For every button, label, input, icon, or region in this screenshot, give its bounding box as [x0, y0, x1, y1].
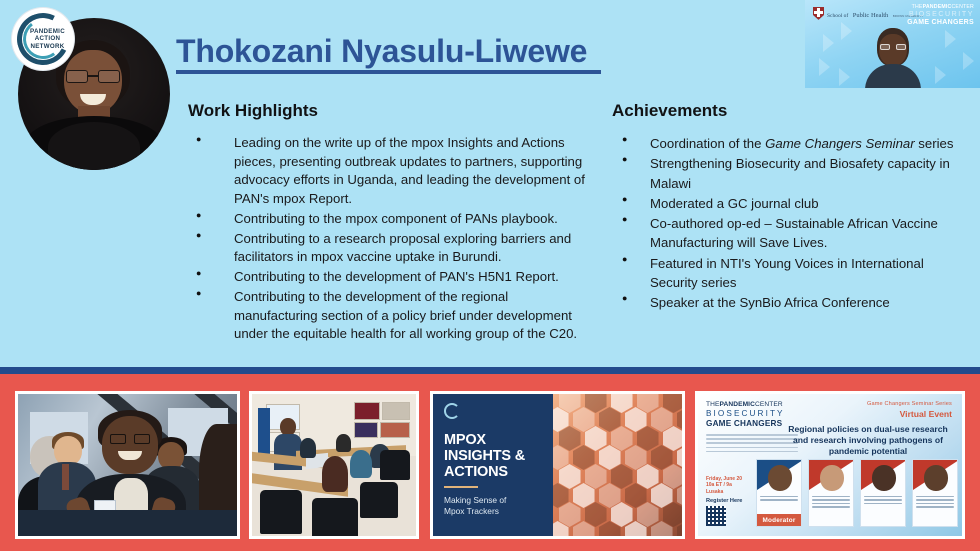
flyer-register-label[interactable]: Register Here — [706, 498, 750, 504]
achievement-item: Coordination of the Game Changers Semina… — [612, 134, 962, 153]
achievements-list: Coordination of the Game Changers Semina… — [612, 134, 962, 312]
vt-brand-game-changers: GAME CHANGERS — [907, 19, 974, 27]
navy-divider — [0, 367, 980, 374]
achievement-item: Moderated a GC journal club — [612, 194, 962, 213]
flyer-speaker-cards: Moderator — [756, 459, 958, 527]
sph-line2: Public Health — [853, 12, 889, 19]
achievement-item: Strengthening Biosecurity and Biosafety … — [612, 154, 962, 193]
mpox-subtitle-line2: Mpox Trackers — [444, 506, 506, 517]
flyer-brand-lockup: THEPANDEMICCENTER BIOSECURITY GAME CHANG… — [706, 401, 785, 429]
presentation-slide: School of Public Health BROWN UNIVERSITY… — [0, 0, 980, 551]
flyer-brand-center: CENTER — [755, 401, 783, 408]
achievement-text-tail: series — [915, 136, 954, 151]
flyer-headline: Regional policies on dual-use research a… — [782, 424, 954, 458]
achievements-section: Achievements Coordination of the Game Ch… — [612, 101, 962, 313]
vt-brand-center: CENTER — [951, 4, 974, 10]
brown-shield-icon — [813, 7, 824, 20]
achievement-text: Moderated a GC journal club — [650, 196, 819, 211]
pandemic-center-mark-icon — [444, 403, 460, 419]
title-underline — [176, 70, 601, 74]
flyer-register-block[interactable]: Friday, June 20 10a ET / 9a Lusaka Regis… — [706, 476, 750, 527]
moderator-badge: Moderator — [757, 514, 801, 526]
gallery-photo-workshop[interactable] — [249, 391, 419, 539]
logo-line-1: PANDEMIC — [30, 28, 65, 35]
glasses-icon — [880, 44, 906, 50]
achievement-text: Strengthening Biosecurity and Biosafety … — [650, 156, 950, 190]
mpox-title-line3: ACTIONS — [444, 464, 525, 480]
work-highlight-item: Contributing to the mpox component of PA… — [188, 210, 588, 229]
flyer-brand-biosecurity: BIOSECURITY — [706, 409, 785, 419]
hex-pattern — [553, 394, 682, 536]
mpox-subtitle-line1: Making Sense of — [444, 495, 506, 506]
work-highlights-list: Leading on the write up of the mpox Insi… — [188, 134, 588, 344]
achievement-text: Speaker at the SynBio Africa Conference — [650, 295, 890, 310]
glasses-icon — [66, 70, 120, 83]
logo-line-2: ACTION — [30, 35, 65, 42]
work-highlight-item: Leading on the write up of the mpox Insi… — [188, 134, 588, 209]
work-highlights-heading: Work Highlights — [188, 101, 588, 121]
sph-line1: School of — [827, 13, 848, 19]
flyer-date-line2: 10a ET / 9a Lusaka — [706, 482, 750, 495]
pandemic-action-network-logo: PANDEMIC ACTION NETWORK — [12, 8, 74, 70]
page-title: Thokozani Nyasulu-Liwewe — [176, 33, 587, 70]
speaker-card-moderator: Moderator — [756, 459, 802, 527]
flyer-series-label: Game Changers Seminar Series — [867, 401, 952, 407]
gallery-photo-mpox-report-cover[interactable]: MPOX INSIGHTS & ACTIONS Making Sense of … — [430, 391, 685, 539]
mpox-title-line1: MPOX — [444, 432, 525, 448]
logo-line-3: NETWORK — [30, 43, 65, 50]
vt-brand-biosecurity: BIOSECURITY — [907, 11, 974, 19]
vt-brand-pandemic: PANDEMIC — [923, 4, 952, 10]
work-highlight-item: Contributing to the development of the r… — [188, 288, 588, 344]
achievement-emphasis: Game Changers Seminar — [765, 136, 915, 151]
flyer-event-type: Virtual Event — [900, 409, 952, 419]
achievement-text: Co-authored op-ed – Sustainable African … — [650, 216, 938, 250]
video-speaker-avatar — [863, 28, 923, 88]
speaker-card-4 — [912, 459, 958, 527]
video-thumbnail[interactable]: School of Public Health BROWN UNIVERSITY… — [805, 0, 980, 88]
mpox-divider — [444, 486, 478, 488]
achievements-heading: Achievements — [612, 101, 962, 121]
mpox-title-line2: INSIGHTS & — [444, 448, 525, 464]
flyer-brand-pandemic: PANDEMIC — [720, 401, 755, 408]
work-highlight-item: Contributing to the development of PAN's… — [188, 268, 588, 287]
gallery-photo-conference[interactable] — [15, 391, 240, 539]
speaker-card-3 — [860, 459, 906, 527]
achievement-text: Featured in NTI's Young Voices in Intern… — [650, 256, 924, 290]
vt-brand-the: THE — [912, 4, 923, 10]
speaker-card-2 — [808, 459, 854, 527]
flyer-brand-game-changers: GAME CHANGERS — [706, 419, 785, 429]
flyer-brand-the: THE — [706, 401, 720, 408]
achievement-item: Speaker at the SynBio Africa Conference — [612, 293, 962, 312]
achievement-item: Featured in NTI's Young Voices in Intern… — [612, 254, 962, 293]
achievement-item: Co-authored op-ed – Sustainable African … — [612, 214, 962, 253]
gallery-photo-seminar-flyer[interactable]: THEPANDEMICCENTER BIOSECURITY GAME CHANG… — [695, 391, 965, 539]
work-highlight-item: Contributing to a research proposal expl… — [188, 230, 588, 267]
work-highlights-section: Work Highlights Leading on the write up … — [188, 101, 588, 345]
achievement-text: Coordination of the — [650, 136, 765, 151]
qr-code-icon[interactable] — [706, 506, 726, 526]
video-brand-lockup: THEPANDEMICCENTER BIOSECURITY GAME CHANG… — [907, 5, 974, 26]
